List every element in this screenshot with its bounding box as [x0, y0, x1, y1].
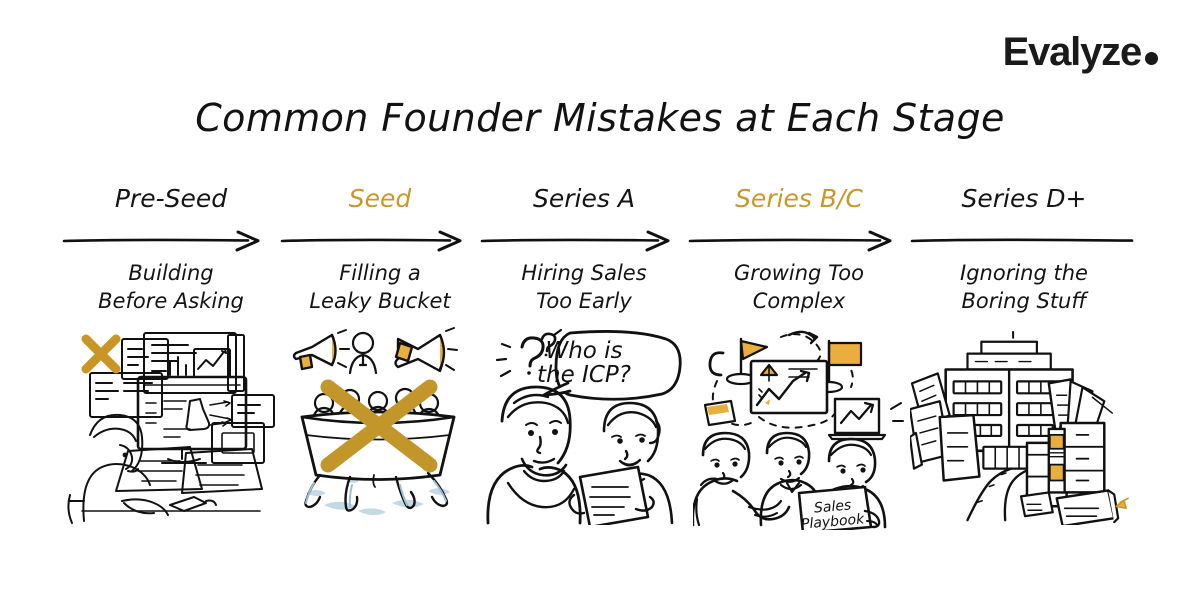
- stage-arrow: [280, 228, 480, 254]
- stage-mistake: Hiring Sales Too Early: [521, 260, 646, 315]
- stage-mistake: Filling a Leaky Bucket: [309, 260, 450, 315]
- brand-dot-icon: [1145, 52, 1158, 65]
- stage-label: Series A: [533, 186, 635, 216]
- speech-bubble-line-2: the ICP?: [537, 362, 631, 388]
- brand-name: Evalyze: [1003, 32, 1141, 72]
- illustration-office-building-scattered-papers: [910, 325, 1138, 530]
- illustration-confused-founder-speech-bubble: Who is the ICP?: [480, 325, 688, 530]
- stage-label: Series B/C: [735, 186, 863, 216]
- stage-label: Seed: [349, 186, 412, 216]
- stage-column-series-a: Series A Hiring Sales Too Early: [480, 186, 688, 530]
- stage-column-series-bc: Series B/C Growing Too Complex: [688, 186, 910, 530]
- stage-arrow: [910, 228, 1138, 254]
- stage-arrow: [688, 228, 910, 254]
- stage-label: Series D+: [961, 186, 1086, 216]
- stage-column-pre-seed: Pre-Seed Building Before Asking: [62, 186, 280, 530]
- stage-mistake: Ignoring the Boring Stuff: [960, 260, 1088, 315]
- stage-mistake: Growing Too Complex: [734, 260, 864, 315]
- stage-column-seed: Seed Filling a Leaky Bucket: [280, 186, 480, 530]
- stage-mistake: Building Before Asking: [98, 260, 244, 315]
- illustration-leaky-bucket-with-people: [280, 325, 480, 530]
- stage-arrow: [62, 228, 280, 254]
- speech-bubble-line-1: Who is: [545, 338, 622, 364]
- stage-track: Pre-Seed Building Before Asking: [62, 186, 1138, 526]
- stage-arrow: [480, 228, 688, 254]
- brand-logo: Evalyze: [1003, 32, 1158, 72]
- stage-column-series-d-plus: Series D+ Ignoring the Boring Stuff: [910, 186, 1138, 530]
- illustration-founder-at-many-screens: [62, 325, 280, 530]
- page-title: Common Founder Mistakes at Each Stage: [0, 96, 1200, 140]
- stage-label: Pre-Seed: [115, 186, 227, 216]
- illustration-team-handshake-playbook: Sales Playbook: [688, 325, 910, 530]
